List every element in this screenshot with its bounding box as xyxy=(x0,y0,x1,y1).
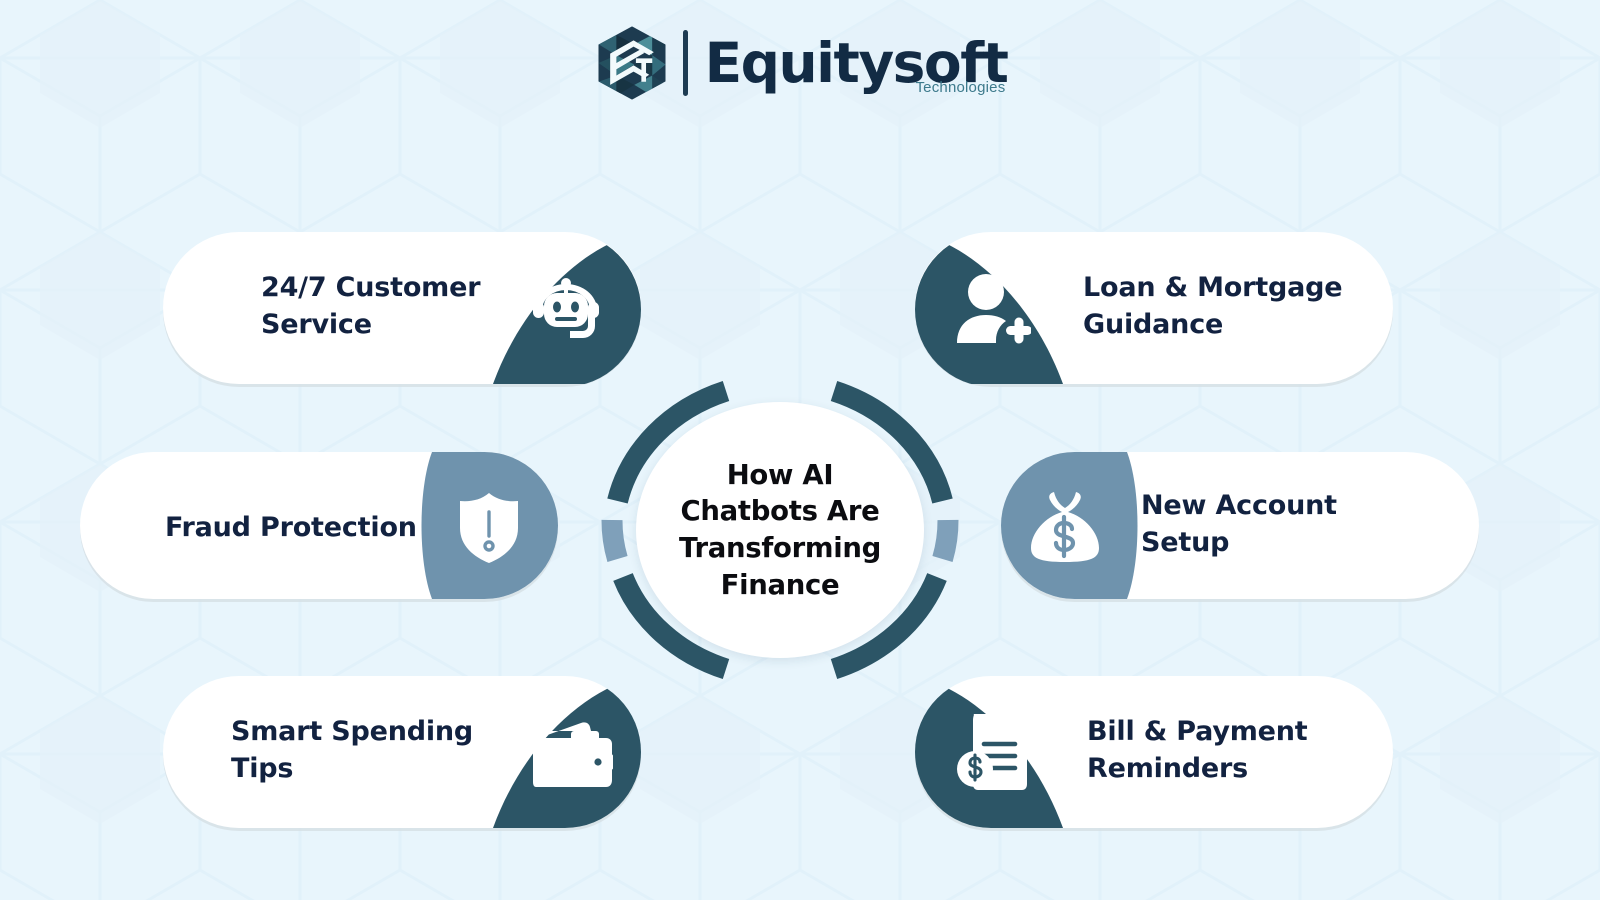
shield-alert-icon xyxy=(458,492,520,564)
equitysoft-hexagon-logo-icon xyxy=(593,24,671,102)
card-fraud-protection[interactable]: Fraud Protection xyxy=(80,452,558,602)
title-line-3: Transforming xyxy=(679,532,881,564)
title-line-4: Finance xyxy=(721,569,840,601)
title-line-2: Chatbots Are xyxy=(680,495,879,527)
brand-wordmark: Equitysoft Technologies xyxy=(705,36,1008,91)
card-bill-payment[interactable]: Bill & Payment Reminders xyxy=(915,676,1393,831)
brand-logo: Equitysoft Technologies xyxy=(0,24,1600,102)
center-core: How AI Chatbots Are Transforming Finance xyxy=(636,402,924,658)
label-line-1: 24/7 Customer xyxy=(261,272,480,303)
ring-segment-left xyxy=(612,520,618,559)
money-bag-icon xyxy=(1027,490,1103,564)
invoice-dollar-icon xyxy=(957,712,1031,792)
card-smart-spending-label: Smart Spending Tips xyxy=(231,714,491,788)
wallet-icon xyxy=(533,722,613,788)
center-hub: How AI Chatbots Are Transforming Finance xyxy=(598,368,962,692)
label-line-1: Bill & Payment xyxy=(1087,716,1308,747)
label-line-1: New Account xyxy=(1141,490,1337,521)
label-line-1: Loan & Mortgage xyxy=(1083,272,1342,303)
logo-divider xyxy=(683,30,688,96)
label-line-2: Service xyxy=(261,309,372,340)
label-line-2: Tips xyxy=(231,753,293,784)
label-line-2: Setup xyxy=(1141,527,1229,558)
user-add-icon xyxy=(953,272,1031,344)
card-new-account[interactable]: New Account Setup xyxy=(1001,452,1479,602)
card-customer-service[interactable]: 24/7 Customer Service xyxy=(163,232,641,387)
label-line-1: Smart Spending xyxy=(231,716,473,747)
card-smart-spending[interactable]: Smart Spending Tips xyxy=(163,676,641,831)
label-line-2: Guidance xyxy=(1083,309,1223,340)
card-bill-payment-label: Bill & Payment Reminders xyxy=(1087,714,1367,788)
title-line-1: How AI xyxy=(727,459,834,491)
card-fraud-protection-label: Fraud Protection xyxy=(165,510,425,547)
card-customer-service-label: 24/7 Customer Service xyxy=(261,270,511,344)
card-loan-mortgage-label: Loan & Mortgage Guidance xyxy=(1083,270,1373,344)
robot-headset-icon xyxy=(530,276,602,344)
label-line-2: Reminders xyxy=(1087,753,1248,784)
card-new-account-label: New Account Setup xyxy=(1141,488,1421,562)
brand-tagline: Technologies xyxy=(915,79,1005,96)
page-title: How AI Chatbots Are Transforming Finance xyxy=(653,457,908,603)
card-loan-mortgage[interactable]: Loan & Mortgage Guidance xyxy=(915,232,1393,387)
ring-segment-right xyxy=(943,520,949,559)
label-line-1: Fraud Protection xyxy=(165,512,417,543)
